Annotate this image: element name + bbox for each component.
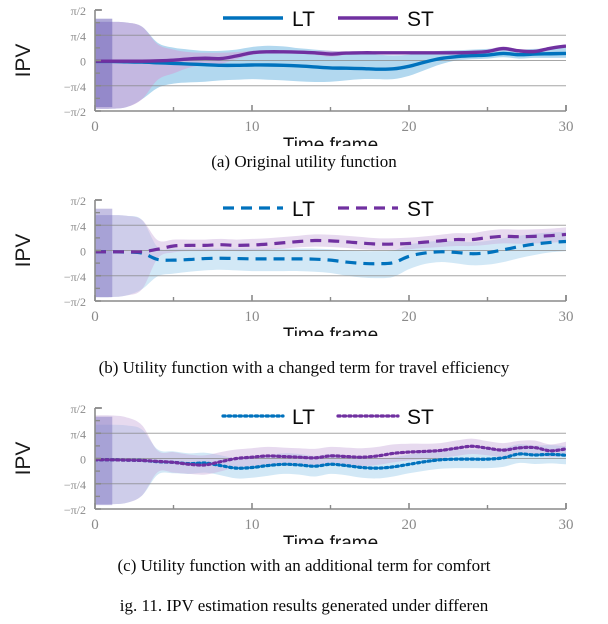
- subcaption-b: (b) Utility function with a changed term…: [0, 358, 608, 378]
- legend-label-st: ST: [407, 406, 434, 429]
- x-tick-label: 30: [559, 517, 574, 533]
- y-axis-label: IPV: [12, 44, 35, 78]
- legend-label-lt: LT: [292, 406, 315, 429]
- figure-caption: ig. 11. IPV estimation results generated…: [0, 596, 608, 616]
- x-tick-label: 0: [91, 119, 99, 135]
- y-tick-label: π/4: [71, 219, 86, 233]
- chart-legend: LTST: [223, 406, 434, 429]
- y-axis-label: IPV: [12, 234, 35, 268]
- chart-legend: LTST: [223, 8, 434, 31]
- x-tick-label: 30: [559, 309, 574, 325]
- x-tick-label: 0: [91, 517, 99, 533]
- y-tick-label: −π/4: [64, 478, 86, 492]
- plot-a: π/2π/40−π/4−π/20102030IPVTime frameLTST: [0, 0, 608, 146]
- x-tick-label: 0: [91, 309, 99, 325]
- subcaption-a: (a) Original utility function: [0, 152, 608, 172]
- plot-b: π/2π/40−π/4−π/20102030IPVTime frameLTST: [0, 190, 608, 336]
- plot-c: π/2π/40−π/4−π/20102030IPVTime frameLTST: [0, 398, 608, 544]
- figure-ipv-estimation: π/2π/40−π/4−π/20102030IPVTime frameLTST …: [0, 0, 608, 624]
- y-tick-label: π/2: [71, 402, 86, 416]
- y-tick-label: −π/2: [64, 503, 86, 517]
- x-tick-label: 10: [245, 517, 260, 533]
- x-axis-label: Time frame: [283, 325, 378, 336]
- x-tick-label: 30: [559, 119, 574, 135]
- x-tick-label: 20: [402, 517, 417, 533]
- y-tick-label: 0: [80, 55, 86, 69]
- x-axis-label: Time frame: [283, 135, 378, 146]
- y-tick-label: −π/4: [64, 80, 86, 94]
- legend-label-st: ST: [407, 198, 434, 221]
- chart-panel-b: π/2π/40−π/4−π/20102030IPVTime frameLTST: [0, 190, 608, 380]
- y-axis-label: IPV: [12, 442, 35, 476]
- y-tick-label: π/4: [71, 427, 86, 441]
- y-tick-label: −π/2: [64, 295, 86, 309]
- x-axis-label: Time frame: [283, 533, 378, 544]
- x-tick-label: 10: [245, 309, 260, 325]
- legend-label-lt: LT: [292, 198, 315, 221]
- x-tick-label: 20: [402, 119, 417, 135]
- y-tick-label: π/4: [71, 29, 86, 43]
- legend-label-st: ST: [407, 8, 434, 31]
- y-tick-label: 0: [80, 245, 86, 259]
- y-tick-label: −π/4: [64, 270, 86, 284]
- chart-panel-c: π/2π/40−π/4−π/20102030IPVTime frameLTST: [0, 398, 608, 578]
- x-tick-label: 20: [402, 309, 417, 325]
- legend-label-lt: LT: [292, 8, 315, 31]
- y-tick-label: π/2: [71, 4, 86, 18]
- x-tick-label: 10: [245, 119, 260, 135]
- chart-legend: LTST: [223, 198, 434, 221]
- y-tick-label: 0: [80, 453, 86, 467]
- y-tick-label: π/2: [71, 194, 86, 208]
- y-tick-label: −π/2: [64, 105, 86, 119]
- subcaption-c: (c) Utility function with an additional …: [0, 556, 608, 576]
